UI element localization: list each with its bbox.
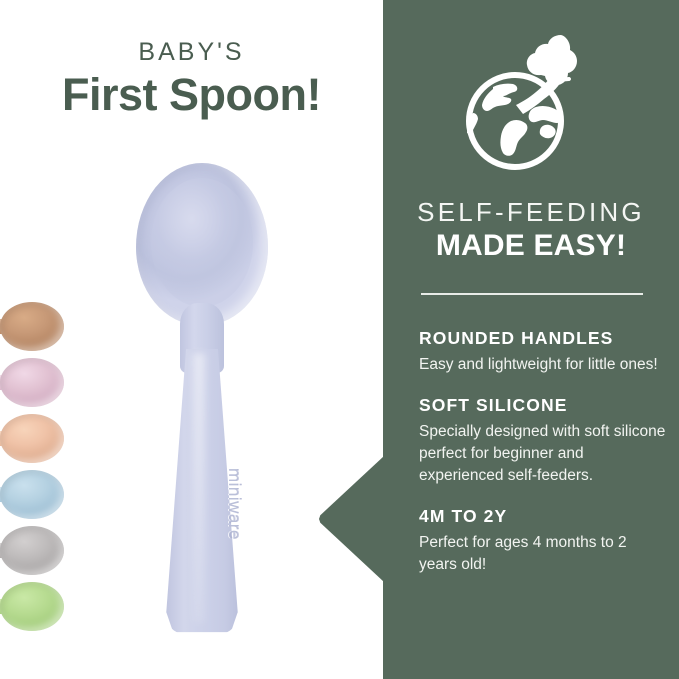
color-swatch-peach[interactable] bbox=[0, 412, 86, 468]
feature-item: ROUNDED HANDLES Easy and lightweight for… bbox=[419, 328, 667, 376]
page-title: First Spoon! bbox=[0, 71, 383, 118]
brand-tagline: SELF-FEEDING MADE EASY! bbox=[383, 198, 679, 263]
swatch-bowl bbox=[0, 414, 64, 463]
feature-item: 4M TO 2Y Perfect for ages 4 months to 2 … bbox=[419, 506, 667, 576]
swatch-bowl bbox=[0, 470, 64, 519]
color-swatch-green[interactable] bbox=[0, 580, 86, 636]
divider bbox=[421, 293, 643, 295]
swatch-bowl bbox=[0, 358, 64, 407]
product-infographic: BABY'S First Spoon! miniware bbox=[0, 0, 679, 679]
swatch-bowl bbox=[0, 526, 64, 575]
color-swatch-pink[interactable] bbox=[0, 356, 86, 412]
brand-emboss-text: miniware bbox=[223, 444, 245, 564]
feature-body: Specially designed with soft silicone pe… bbox=[419, 421, 667, 487]
color-swatch-blue[interactable] bbox=[0, 468, 86, 524]
feature-title: ROUNDED HANDLES bbox=[419, 328, 667, 349]
brand-tagline-line2: MADE EASY! bbox=[383, 229, 679, 264]
brand-tagline-line1: SELF-FEEDING bbox=[383, 198, 679, 227]
feature-title: 4M TO 2Y bbox=[419, 506, 667, 527]
title-kicker: BABY'S bbox=[0, 40, 383, 65]
color-variant-strip bbox=[0, 300, 86, 636]
feature-item: SOFT SILICONE Specially designed with so… bbox=[419, 395, 667, 487]
feature-title: SOFT SILICONE bbox=[419, 395, 667, 416]
color-swatch-tan[interactable] bbox=[0, 300, 86, 356]
globe-sprout-icon bbox=[383, 28, 679, 180]
main-spoon: miniware bbox=[128, 163, 276, 635]
feature-body: Perfect for ages 4 months to 2 years old… bbox=[419, 532, 667, 576]
feature-body: Easy and lightweight for little ones! bbox=[419, 354, 667, 376]
swatch-bowl bbox=[0, 582, 64, 631]
main-spoon-bowl-inner bbox=[151, 178, 254, 308]
swatch-bowl bbox=[0, 302, 64, 351]
main-spoon-bowl bbox=[136, 163, 268, 325]
title-block: BABY'S First Spoon! bbox=[0, 40, 383, 118]
main-spoon-highlight bbox=[193, 353, 205, 623]
left-panel: BABY'S First Spoon! miniware bbox=[0, 0, 383, 679]
color-swatch-gray[interactable] bbox=[0, 524, 86, 580]
feature-list: ROUNDED HANDLES Easy and lightweight for… bbox=[419, 328, 667, 595]
